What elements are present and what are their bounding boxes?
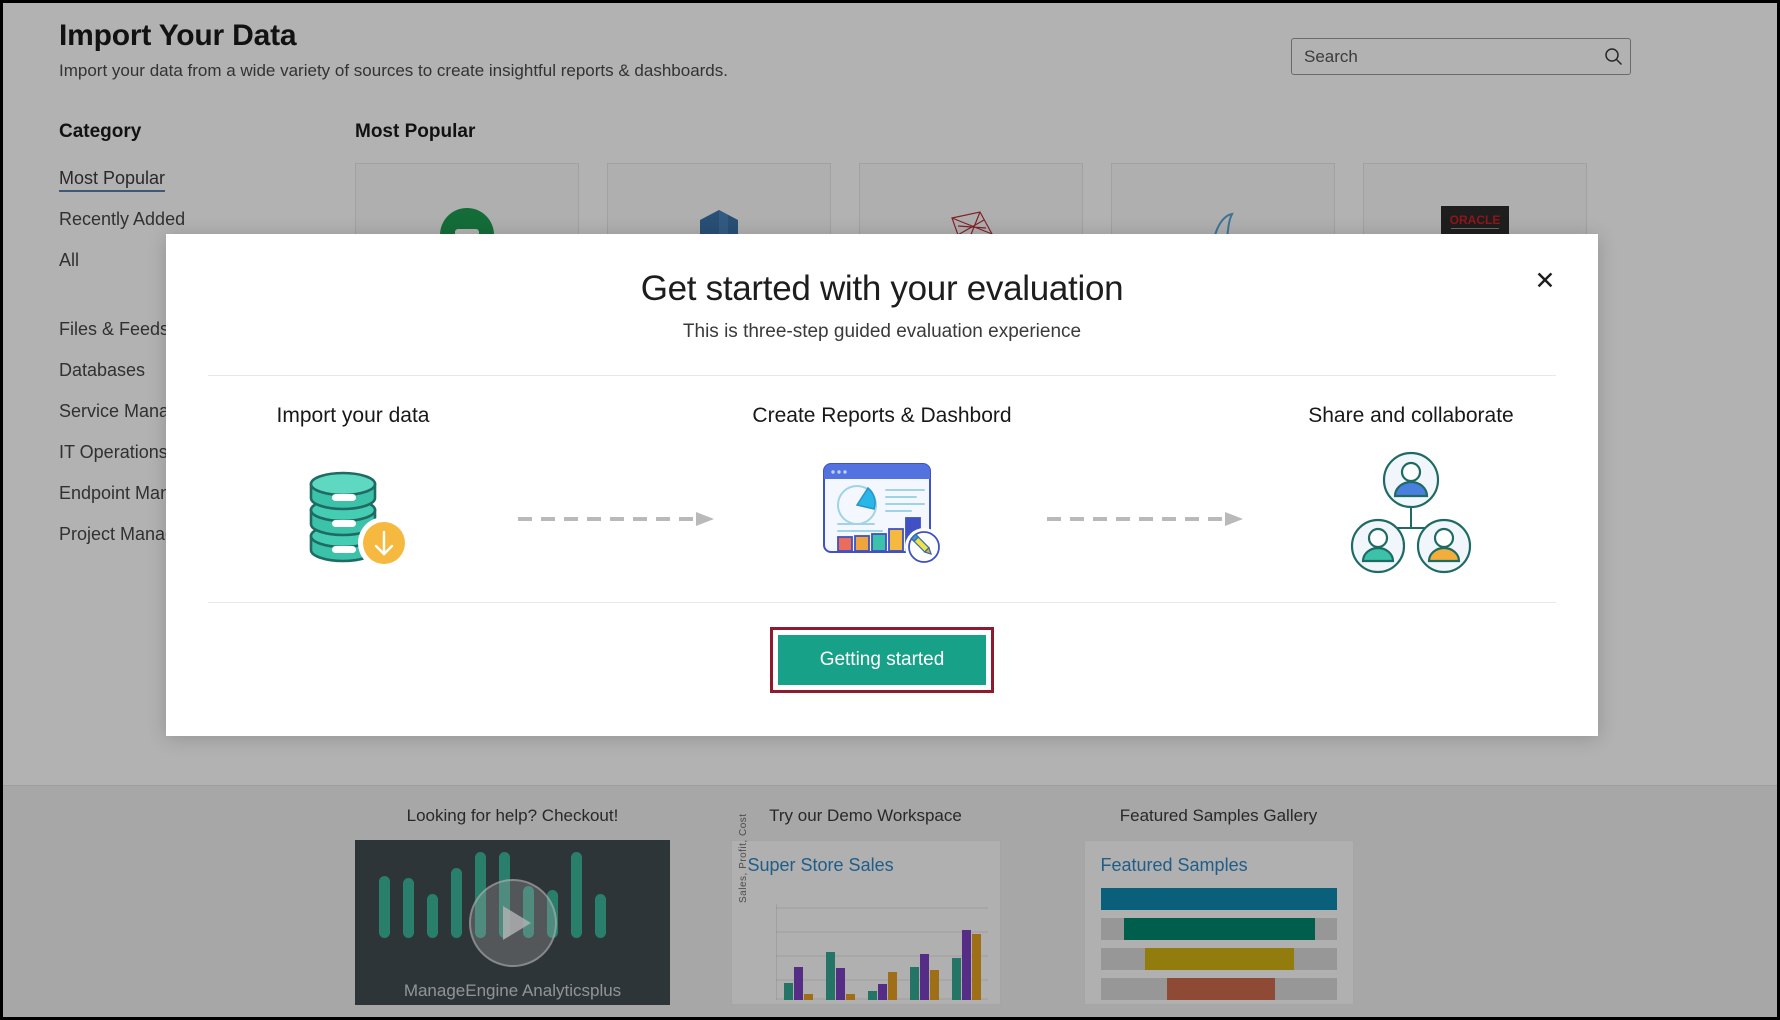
modal-title: Get started with your evaluation	[166, 234, 1598, 309]
evaluation-modal: ✕ Get started with your evaluation This …	[166, 234, 1598, 736]
step-label: Share and collaborate	[1276, 404, 1546, 428]
database-download-icon	[218, 446, 488, 578]
app-screenshot: Import Your Data Import your data from a…	[0, 0, 1780, 1020]
people-network-icon	[1276, 446, 1546, 578]
step-import-your-data: Import your data	[218, 404, 488, 578]
step-share-and-collaborate: Share and collaborate	[1276, 404, 1546, 578]
step-label: Create Reports & Dashbord	[747, 404, 1017, 428]
getting-started-button[interactable]: Getting started	[778, 635, 987, 685]
modal-subtitle: This is three-step guided evaluation exp…	[166, 321, 1598, 343]
step-label: Import your data	[218, 404, 488, 428]
dashed-arrow-icon	[488, 404, 747, 526]
cta-row: Getting started	[166, 627, 1598, 693]
modal-divider-bottom	[208, 602, 1556, 603]
dashboard-edit-icon	[747, 446, 1017, 578]
dashed-arrow-icon	[1017, 404, 1276, 526]
step-create-reports-dashboard: Create Reports & Dashbord	[747, 404, 1017, 578]
steps-row: Import your data	[166, 376, 1598, 578]
cta-highlight-box: Getting started	[770, 627, 995, 693]
close-icon[interactable]: ✕	[1530, 266, 1560, 296]
